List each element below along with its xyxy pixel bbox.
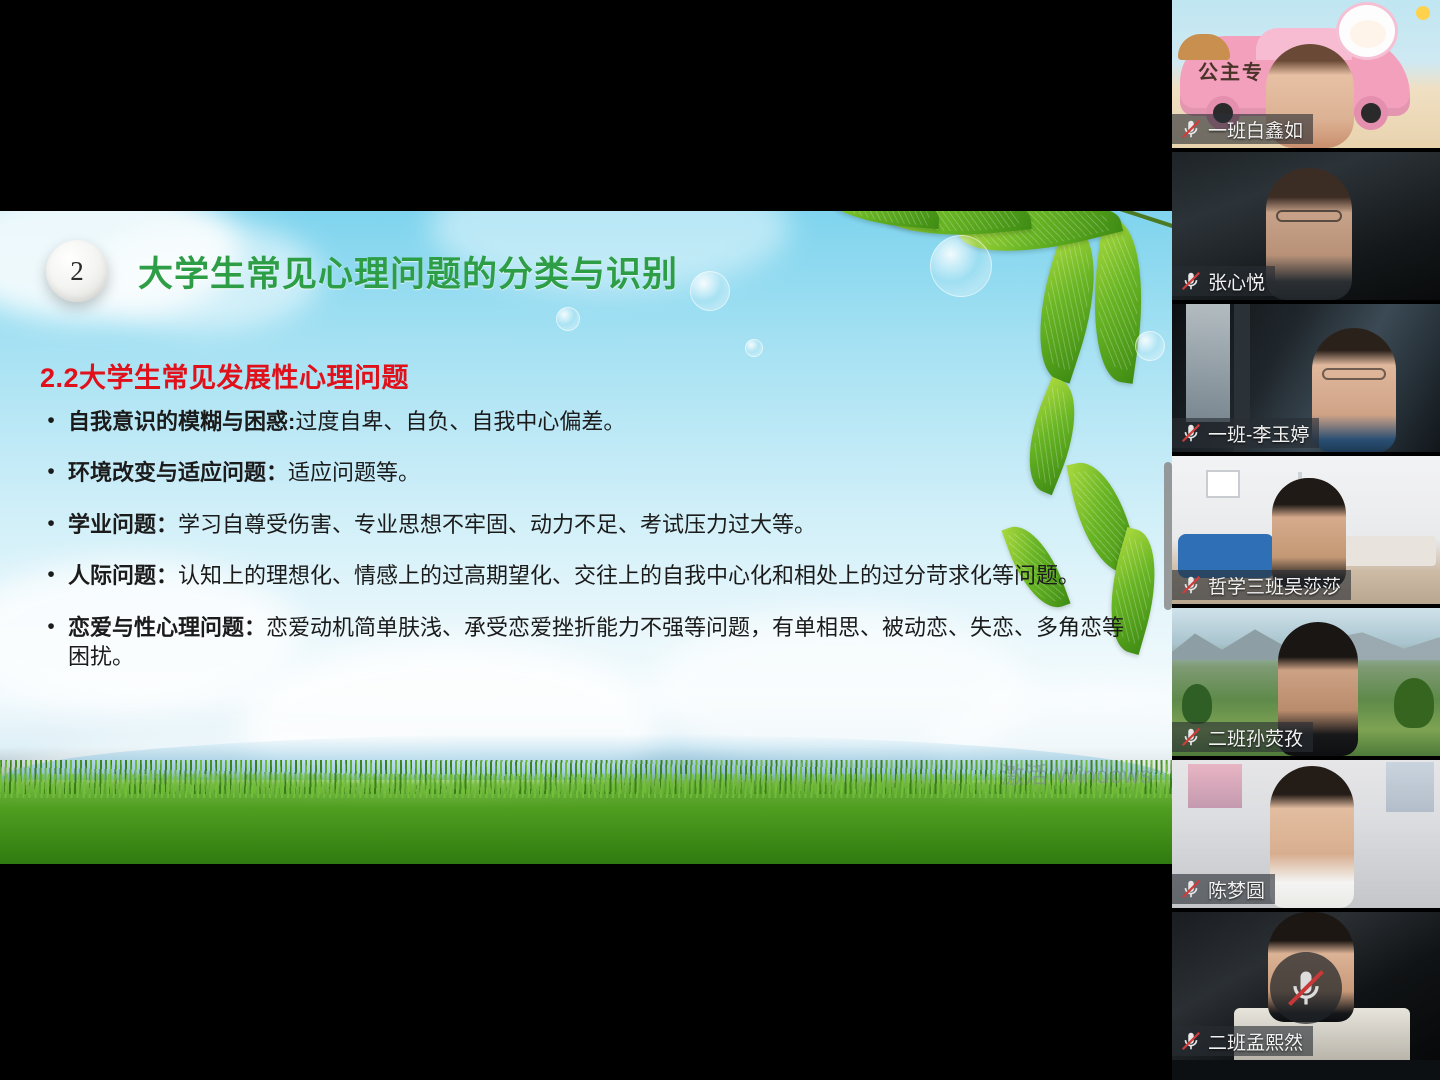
participant-face [1312,328,1396,452]
cartoon-sheep-face [1350,20,1386,48]
list-item: • 学业问题：学习自尊受伤害、专业思想不牢固、动力不足、考试压力过大等。 [34,510,1144,539]
participant-name: 哲学三班吴莎莎 [1208,572,1341,599]
eyeglasses-icon [1322,368,1386,380]
participant-tile[interactable]: 一班-李玉婷 [1172,304,1440,452]
window-light [1186,304,1230,422]
mic-off-large-icon [1270,952,1342,1024]
mic-off-icon [1180,574,1202,596]
participant-tile[interactable]: 张心悦 [1172,152,1440,300]
slide-title-row: 2 大学生常见心理问题的分类与识别 [46,240,678,302]
virtual-background-car-text: 公主专 [1198,56,1264,85]
list-item-text: 环境改变与适应问题：适应问题等。 [68,458,420,487]
participant-name: 张心悦 [1208,268,1265,295]
list-item-text: 恋爱与性心理问题：恋爱动机简单肤浅、承受恋爱挫折能力不强等问题，有单相思、被动恋… [68,613,1144,672]
participant-face [1270,766,1354,908]
participant-name-bar: 陈梦圆 [1172,874,1275,904]
bullet-marker: • [34,458,68,485]
mic-off-icon [1180,878,1202,900]
tree-decoration [1394,678,1434,728]
participant-name-bar: 二班孙荧孜 [1172,722,1313,752]
participant-face [1266,168,1352,300]
page-title: 大学生常见心理问题的分类与识别 [138,246,678,297]
section-heading: 2.2大学生常见发展性心理问题 [40,356,409,395]
participant-name: 陈梦圆 [1208,876,1265,903]
participant-tile[interactable]: 公主专 一班白鑫如 [1172,0,1440,148]
bullet-marker: • [34,613,68,640]
presentation-slide[interactable]: 2 大学生常见心理问题的分类与识别 2.2大学生常见发展性心理问题 • 自我意识… [0,211,1172,864]
list-item: • 人际问题：认知上的理想化、情感上的过高期望化、交往上的自我中心化和相处上的过… [34,561,1144,590]
poster-decoration [1386,762,1434,812]
participant-tile[interactable]: 陈梦圆 [1172,760,1440,908]
mic-off-icon [1180,118,1202,140]
participant-name-bar: 张心悦 [1172,266,1275,296]
list-item-body: 适应问题等。 [288,460,420,485]
eyeglasses-icon [1276,210,1342,222]
bullet-marker: • [34,407,68,434]
wall-picture-frame [1206,470,1240,498]
mic-off-icon [1180,270,1202,292]
bullet-marker: • [34,510,68,537]
bullet-marker: • [34,561,68,588]
tree-decoration [1182,684,1212,724]
list-item-body: 过度自卑、自负、自我中心偏差。 [295,409,625,434]
list-item: • 环境改变与适应问题：适应问题等。 [34,458,1144,487]
bubble-decoration [556,307,580,331]
participant-tile[interactable]: 哲学三班吴莎莎 [1172,456,1440,604]
participant-tile[interactable]: 二班孙荧孜 [1172,608,1440,756]
tile-bottom-filler [1172,1060,1440,1080]
participant-strip-scrollbar-thumb[interactable] [1164,462,1172,610]
participant-name-bar: 一班-李玉婷 [1172,418,1319,448]
list-item-text: 学业问题：学习自尊受伤害、专业思想不牢固、动力不足、考试压力过大等。 [68,510,816,539]
bubble-decoration [690,271,730,311]
participant-name-bar: 二班孟熙然 [1172,1026,1313,1056]
grass-decoration [0,772,1172,864]
mic-off-icon [1180,726,1202,748]
list-item-label: 恋爱与性心理问题： [68,615,266,640]
shared-screen-stage[interactable]: 2 大学生常见心理问题的分类与识别 2.2大学生常见发展性心理问题 • 自我意识… [0,0,1172,1080]
section-number-badge: 2 [46,240,108,302]
poster-decoration [1188,764,1242,808]
bullet-list: • 自我意识的模糊与困惑:过度自卑、自负、自我中心偏差。 • 环境改变与适应问题… [34,407,1144,694]
bubble-decoration [1135,331,1165,361]
participant-name: 一班白鑫如 [1208,116,1303,143]
participant-name: 二班孙荧孜 [1208,724,1303,751]
list-item-body: 学习自尊受伤害、专业思想不牢固、动力不足、考试压力过大等。 [178,512,816,537]
participant-name-bar: 一班白鑫如 [1172,114,1313,144]
list-item-label: 人际问题： [68,563,178,588]
car-wheel [1354,96,1388,130]
bubble-decoration [745,339,763,357]
list-item: • 恋爱与性心理问题：恋爱动机简单肤浅、承受恋爱挫折能力不强等问题，有单相思、被… [34,613,1144,672]
participant-name: 一班-李玉婷 [1208,420,1309,447]
list-item-label: 自我意识的模糊与困惑: [68,409,295,434]
windows-activation-watermark: 激活 Windows [1001,756,1152,790]
list-item-label: 环境改变与适应问题： [68,460,288,485]
list-item-text: 人际问题：认知上的理想化、情感上的过高期望化、交往上的自我中心化和相处上的过分苛… [68,561,1080,590]
participant-tile[interactable]: 二班孟熙然 [1172,912,1440,1060]
list-item-text: 自我意识的模糊与困惑:过度自卑、自负、自我中心偏差。 [68,407,625,436]
mic-off-icon [1180,1030,1202,1052]
leaf-decoration [819,211,941,229]
mic-off-icon [1180,422,1202,444]
participant-name-bar: 哲学三班吴莎莎 [1172,570,1351,600]
bubble-decoration [930,235,992,297]
list-item-body: 认知上的理想化、情感上的过高期望化、交往上的自我中心化和相处上的过分苛求化等问题… [178,563,1080,588]
list-item-label: 学业问题： [68,512,178,537]
participant-name: 二班孟熙然 [1208,1028,1303,1055]
meeting-screen-share-window: 2 大学生常见心理问题的分类与识别 2.2大学生常见发展性心理问题 • 自我意识… [0,0,1440,1080]
sun-decoration [1416,6,1430,20]
participant-video-strip[interactable]: 公主专 一班白鑫如 张心悦 [1172,0,1440,1080]
list-item: • 自我意识的模糊与困惑:过度自卑、自负、自我中心偏差。 [34,407,1144,436]
